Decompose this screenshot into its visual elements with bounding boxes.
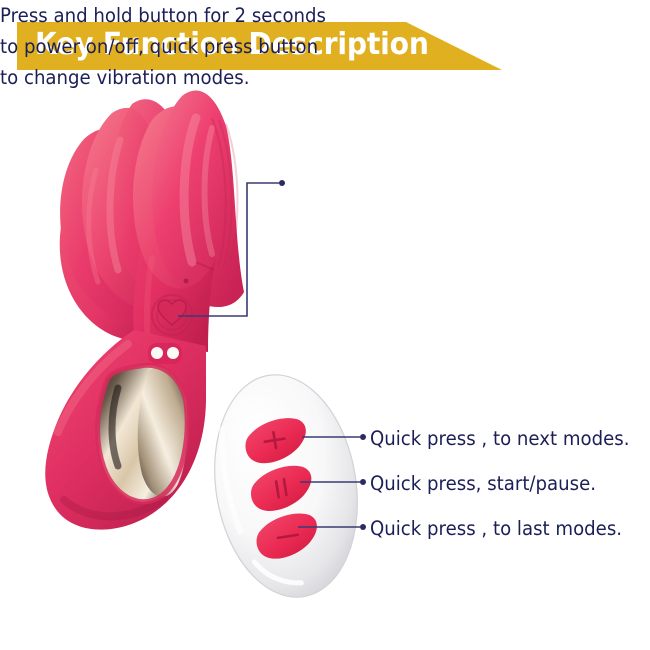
callout-main-description: Press and hold button for 2 seconds to p… — [0, 0, 650, 93]
neck-seam — [184, 262, 214, 283]
charging-contacts — [148, 343, 182, 364]
callout-main-line-3: to change vibration modes. — [0, 62, 605, 93]
callout-last-modes: Quick press , to last modes. — [370, 513, 622, 544]
product-illustration — [0, 0, 650, 650]
leader-dot-next-modes — [360, 434, 366, 440]
heart-power-button[interactable] — [152, 295, 192, 335]
leader-dot-last-modes — [360, 524, 366, 530]
callout-next-modes: Quick press , to next modes. — [370, 423, 630, 454]
leader-dot-main — [279, 180, 285, 186]
inner-metal-cavity — [98, 365, 188, 502]
product-body — [45, 330, 206, 530]
infographic-canvas: Key Function Description — [0, 0, 650, 650]
callout-main-line-1: Press and hold button for 2 seconds — [0, 0, 605, 31]
callout-main-line-2: to power on/off, quick press button — [0, 31, 605, 62]
play-pause-button[interactable] — [247, 463, 315, 514]
leader-dot-start-pause — [360, 479, 366, 485]
leader-line-main — [178, 183, 280, 316]
callout-start-pause: Quick press, start/pause. — [370, 468, 596, 499]
rose-petals — [60, 99, 198, 340]
plus-button[interactable] — [242, 415, 310, 466]
rose-main-lobe — [133, 91, 244, 308]
product-neck — [133, 250, 216, 352]
minus-button[interactable] — [253, 511, 321, 562]
leader-lines — [178, 183, 361, 527]
oval-remote-control[interactable] — [199, 364, 372, 607]
